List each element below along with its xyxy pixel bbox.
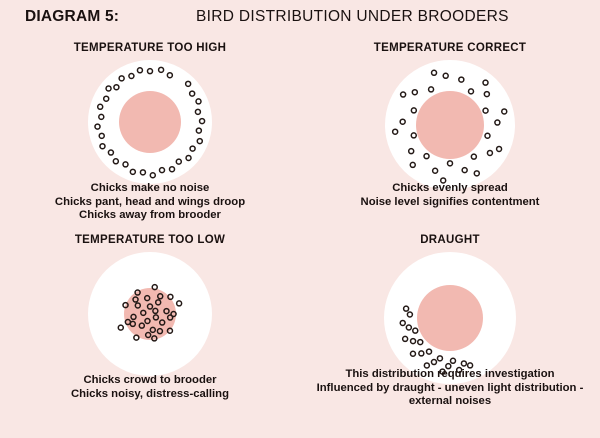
brooder-diagram-0 bbox=[86, 58, 214, 186]
panel-heading: DRAUGHT bbox=[300, 234, 600, 246]
caption-line: Noise level signifies contentment bbox=[300, 196, 600, 210]
panel-temperature-correct: TEMPERATURE CORRECT Chicks evenly spread… bbox=[300, 36, 600, 236]
brooder-heat-zone bbox=[416, 91, 484, 159]
diagram-number-label: DIAGRAM 5: bbox=[25, 8, 119, 26]
caption-line: Chicks evenly spread bbox=[300, 182, 600, 196]
brooder-diagram-3 bbox=[382, 250, 518, 386]
panel-caption: Chicks crowd to brooderChicks noisy, dis… bbox=[0, 374, 300, 401]
panel-temperature-too-low: TEMPERATURE TOO LOW Chicks crowd to broo… bbox=[0, 228, 300, 428]
brooder-illustration bbox=[382, 250, 518, 386]
brooder-illustration bbox=[86, 58, 214, 186]
brooder-heat-zone bbox=[119, 91, 181, 153]
caption-line: Chicks make no noise bbox=[0, 182, 300, 196]
panel-caption: This distribution requires investigation… bbox=[300, 368, 600, 409]
panel-draught: DRAUGHT This distribution requires inves… bbox=[300, 228, 600, 428]
caption-line: Chicks crowd to brooder bbox=[0, 374, 300, 388]
caption-line: Chicks noisy, distress-calling bbox=[0, 388, 300, 402]
brooder-illustration bbox=[86, 250, 214, 378]
caption-line: Chicks pant, head and wings droop bbox=[0, 196, 300, 210]
diagram-header: DIAGRAM 5: BIRD DISTRIBUTION UNDER BROOD… bbox=[0, 0, 600, 34]
panel-heading: TEMPERATURE TOO LOW bbox=[0, 234, 300, 246]
panel-caption: Chicks evenly spreadNoise level signifie… bbox=[300, 182, 600, 209]
page-title: BIRD DISTRIBUTION UNDER BROODERS bbox=[196, 8, 509, 26]
panel-heading: TEMPERATURE TOO HIGH bbox=[0, 42, 300, 54]
panel-temperature-too-high: TEMPERATURE TOO HIGH Chicks make no nois… bbox=[0, 36, 300, 236]
brooder-diagram-1 bbox=[383, 58, 517, 192]
panel-heading: TEMPERATURE CORRECT bbox=[300, 42, 600, 54]
brooder-illustration bbox=[383, 58, 517, 192]
caption-line: Influenced by draught - uneven light dis… bbox=[300, 382, 600, 396]
caption-line: This distribution requires investigation bbox=[300, 368, 600, 382]
panel-caption: Chicks make no noiseChicks pant, head an… bbox=[0, 182, 300, 223]
caption-line: Chicks away from brooder bbox=[0, 209, 300, 223]
brooder-diagram-2 bbox=[86, 250, 214, 378]
brooder-heat-zone bbox=[417, 285, 483, 351]
caption-line: external noises bbox=[300, 395, 600, 409]
